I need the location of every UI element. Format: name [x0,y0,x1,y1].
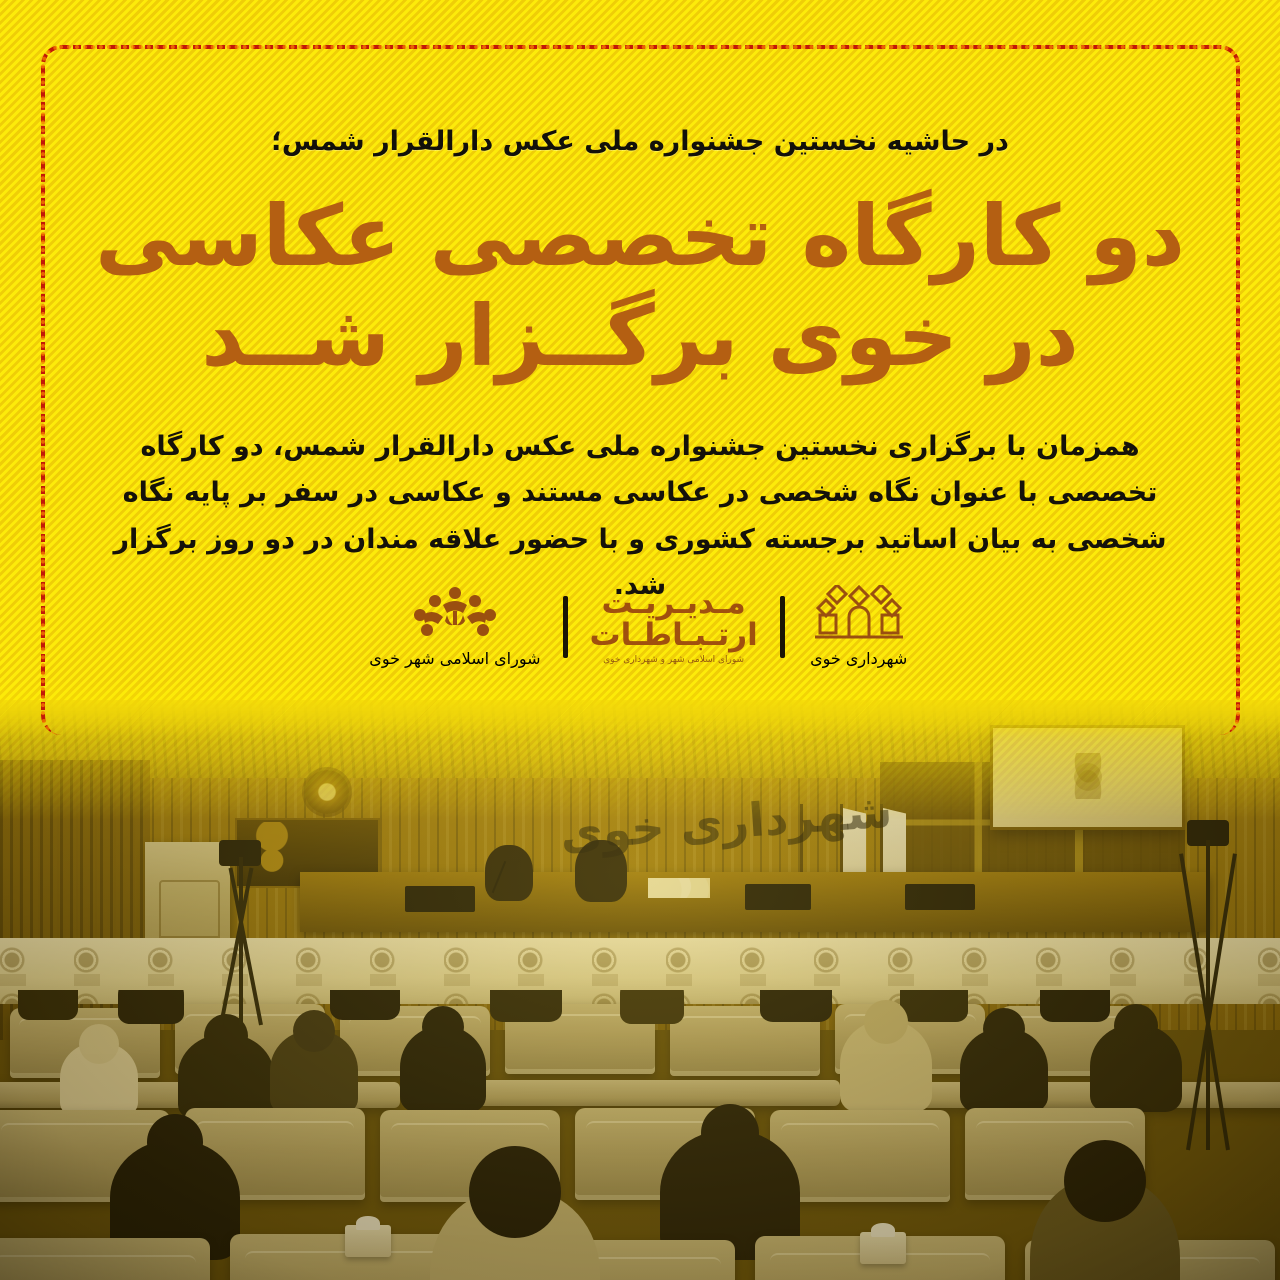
poster-root: شهرداری خوی [0,0,1280,1280]
body-paragraph: همزمان با برگزاری نخستین جشنواره ملی عکس… [70,424,1210,610]
communications-subtitle: شورای اسلامی شهر و شهرداری خوی [603,655,744,665]
page-title: دو کارگاه تخصصی عکاسی در خوی برگــزار شـ… [70,191,1210,382]
event-photograph: شهرداری خوی [0,700,1280,1280]
municipality-logo: شهرداری خوی [807,585,911,668]
header-content: در حاشیه نخستین جشنواره ملی عکس دارالقرا… [70,60,1210,610]
headline-line-2: در خوی برگــزار شــد [70,291,1210,382]
communications-line-1: مـدیـریـت [601,588,745,620]
logo-row: شهرداری خوی مـدیـریـت ارتـبـاطـات شورای … [0,585,1280,668]
logo-divider-1 [780,596,785,658]
logo-divider-2 [563,596,568,658]
city-gate-icon [807,585,911,649]
council-caption: شورای اسلامی شهر خوی [369,649,540,668]
headline-line-1: دو کارگاه تخصصی عکاسی [70,191,1210,282]
communications-line-2: ارتـبـاطـات [590,620,758,652]
municipality-caption: شهرداری خوی [810,649,907,668]
city-council-emblem-icon [395,585,515,649]
communications-logo: مـدیـریـت ارتـبـاطـات شورای اسلامی شهر و… [590,588,758,665]
kicker-text: در حاشیه نخستین جشنواره ملی عکس دارالقرا… [70,122,1210,163]
council-logo: شورای اسلامی شهر خوی [369,585,540,668]
